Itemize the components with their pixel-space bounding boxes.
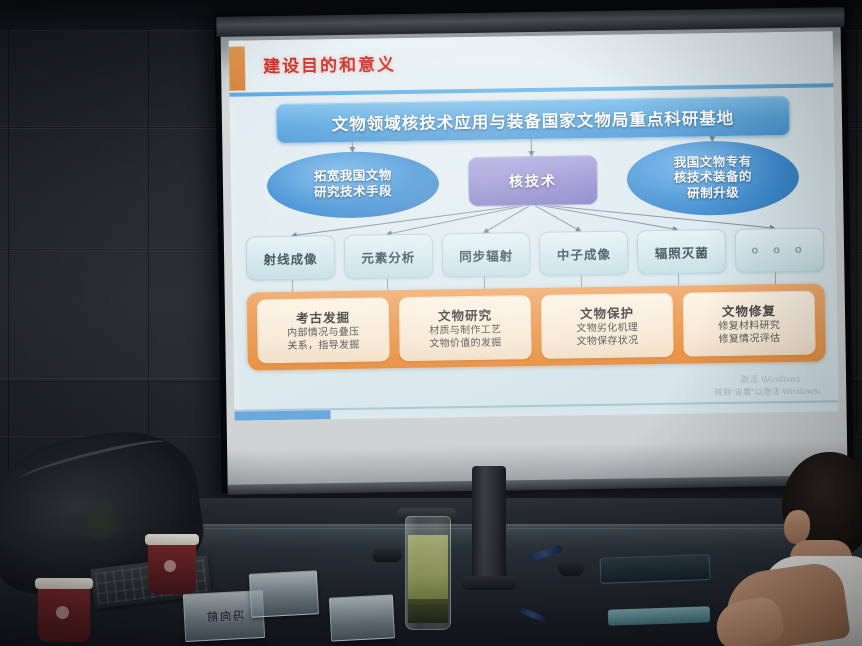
app-card-title: 文物研究: [438, 305, 492, 325]
cup-lid: [35, 578, 93, 589]
node-line-2: 核技术装备的: [674, 170, 752, 187]
slide-bottom-blue-strip: [235, 410, 331, 421]
projection-screen: 建设目的和意义 文物领域核技术应用与装备国家文物局重点科研基地: [220, 9, 847, 489]
nameplate-text: 冯向前: [204, 607, 244, 625]
app-card-line-2: 文物保存状况: [576, 335, 638, 349]
app-card-restoration: 文物修复 修复材料研究 修复情况评估: [683, 291, 816, 357]
app-card-line-1: 文物劣化机理: [576, 323, 638, 337]
coffee-cup-left: [38, 578, 90, 642]
cup-lid: [145, 534, 199, 545]
wall-vseam: [856, 30, 857, 430]
person-ear: [784, 510, 810, 544]
tech-chip-neutron-imaging: 中子成像: [539, 231, 629, 276]
nameplate-tertiary: [329, 594, 395, 641]
node-broaden-research: 拓宽我国文物 研究技术手段: [266, 150, 439, 219]
app-card-archaeology: 考古发掘 内部情况与叠压 关系，指导发掘: [257, 297, 390, 363]
app-card-line-1: 材质与制作工艺: [429, 325, 501, 339]
desk-object: [372, 548, 402, 562]
node-top-title: 文物领域核技术应用与装备国家文物局重点科研基地: [276, 96, 791, 144]
node-line-1: 我国文物专有: [674, 154, 752, 171]
slide-title: 建设目的和意义: [263, 50, 396, 77]
app-card-protection: 文物保护 文物劣化机理 文物保存状况: [541, 293, 674, 359]
thermos-base: [462, 576, 516, 590]
tech-chip-xray: 射线成像: [246, 235, 336, 280]
app-card-research: 文物研究 材质与制作工艺 文物价值的发掘: [399, 295, 532, 361]
node-line-3: 研制升级: [674, 185, 752, 202]
header-accent-bar: [229, 47, 246, 91]
tea-liquid: [408, 535, 448, 605]
technique-row: 射线成像 元素分析 同步辐射 中子成像 辐照灭菌 o o o: [246, 227, 825, 280]
wall-vseam: [8, 30, 9, 490]
coffee-cup-center: [148, 534, 196, 594]
app-card-title: 文物修复: [722, 300, 776, 320]
tech-chip-irradiation-sterilization: 辐照灭菌: [637, 229, 727, 274]
nameplate-secondary: [249, 570, 319, 617]
cup-logo: [56, 606, 69, 619]
node-nuclear-technology: 核技术: [468, 155, 599, 207]
cup-logo: [164, 560, 176, 572]
windows-activation-watermark: 激活 Windows 转到"设置"以激活 Windows。: [714, 373, 826, 399]
app-card-line-2: 文物价值的发掘: [429, 338, 501, 352]
application-band: 考古发掘 内部情况与叠压 关系，指导发掘 文物研究 材质与制作工艺 文物价值的发…: [247, 283, 826, 370]
app-card-title: 文物保护: [580, 303, 634, 323]
tea-leaves: [408, 599, 448, 623]
desk-object: [558, 560, 584, 576]
tech-chip-element-analysis: 元素分析: [344, 234, 434, 279]
screenshot-root: 建设目的和意义 文物领域核技术应用与装备国家文物局重点科研基地: [0, 0, 862, 646]
potted-plant: [78, 498, 124, 540]
app-card-line-2: 修复情况评估: [718, 333, 780, 347]
app-card-line-1: 内部情况与叠压: [287, 327, 359, 341]
app-card-line-2: 关系，指导发掘: [287, 340, 359, 354]
presentation-slide: 建设目的和意义 文物领域核技术应用与装备国家文物局重点科研基地: [229, 31, 839, 420]
wall-vseam: [148, 30, 149, 490]
app-card-title: 考古发掘: [296, 307, 350, 327]
glass-tea-bottle: [405, 516, 451, 630]
app-card-line-1: 修复材料研究: [718, 320, 780, 334]
black-thermos: [472, 466, 506, 584]
tech-chip-ellipsis: o o o: [735, 227, 825, 272]
node-line-2: 研究技术手段: [314, 184, 392, 201]
node-equipment-upgrade: 我国文物专有 核技术装备的 研制升级: [626, 140, 799, 217]
conference-tablet: [600, 554, 711, 584]
watermark-line-2: 转到"设置"以激活 Windows。: [715, 386, 827, 399]
node-line-1: 拓宽我国文物: [314, 169, 392, 186]
tech-chip-synchrotron: 同步辐射: [441, 232, 531, 277]
